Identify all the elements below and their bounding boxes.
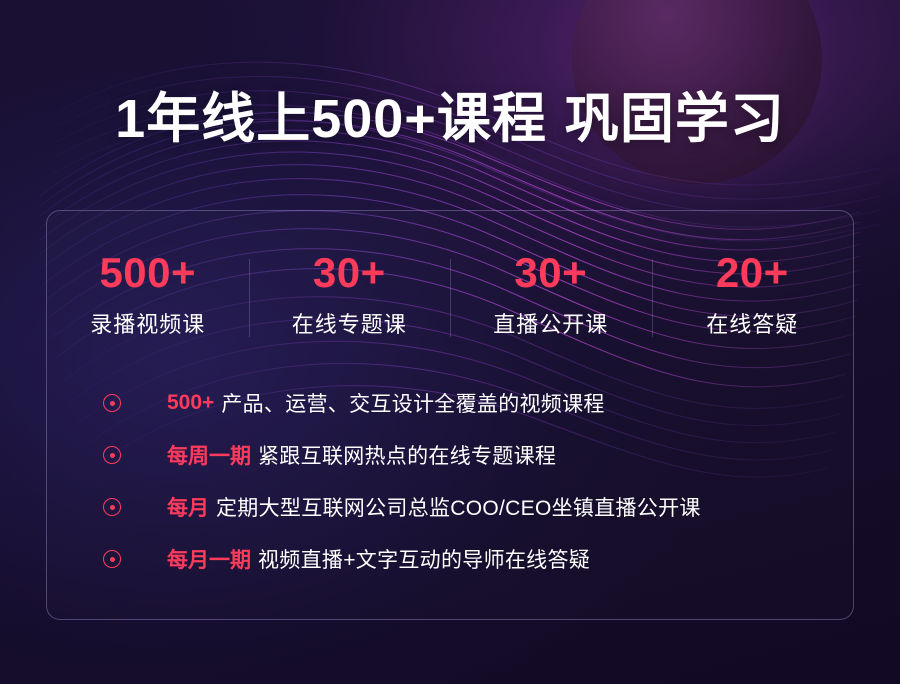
stats-row: 500+ 录播视频课 30+ 在线专题课 30+ 直播公开课 20+ 在线答疑 — [47, 249, 853, 339]
bullet-dot-icon — [103, 446, 121, 464]
bullet-text: 定期大型互联网公司总监COO/CEO坐镇直播公开课 — [216, 492, 701, 522]
stat-item-recorded: 500+ 录播视频课 — [47, 249, 249, 339]
bullet-text: 紧跟互联网热点的在线专题课程 — [258, 440, 556, 470]
stat-item-topic: 30+ 在线专题课 — [249, 249, 451, 339]
stat-label: 在线专题课 — [249, 307, 451, 339]
bullet-emphasis: 每周一期 — [167, 440, 251, 470]
stat-label: 录播视频课 — [47, 307, 249, 339]
list-item: 每周一期 紧跟互联网热点的在线专题课程 — [103, 431, 829, 479]
stat-value: 30+ — [249, 249, 451, 297]
headline-part-2: 巩固学习 — [565, 89, 785, 149]
list-item: 500+ 产品、运营、交互设计全覆盖的视频课程 — [103, 379, 829, 427]
promo-poster: 1年线上500+课程巩固学习 500+ 录播视频课 30+ 在线专题课 30+ … — [0, 0, 900, 684]
page-title: 1年线上500+课程巩固学习 — [0, 74, 900, 153]
list-item: 每月 定期大型互联网公司总监COO/CEO坐镇直播公开课 — [103, 483, 829, 531]
bullet-dot-icon — [103, 550, 121, 568]
bullet-dot-icon — [103, 498, 121, 516]
list-item: 每月一期 视频直播+文字互动的导师在线答疑 — [103, 535, 829, 583]
stat-item-qa: 20+ 在线答疑 — [652, 249, 854, 339]
content-card: 500+ 录播视频课 30+ 在线专题课 30+ 直播公开课 20+ 在线答疑 … — [46, 210, 854, 620]
stat-label: 在线答疑 — [652, 307, 854, 339]
stat-item-live: 30+ 直播公开课 — [450, 249, 652, 339]
stat-label: 直播公开课 — [450, 307, 652, 339]
stat-value: 500+ — [47, 249, 249, 297]
bullet-dot-icon — [103, 394, 121, 412]
bullet-emphasis: 每月 — [167, 492, 209, 522]
bullet-list: 500+ 产品、运营、交互设计全覆盖的视频课程 每周一期 紧跟互联网热点的在线专… — [103, 379, 829, 587]
stat-value: 20+ — [652, 249, 854, 297]
bullet-emphasis: 每月一期 — [167, 544, 251, 574]
stat-value: 30+ — [450, 249, 652, 297]
bullet-text: 产品、运营、交互设计全覆盖的视频课程 — [221, 388, 604, 418]
bullet-emphasis: 500+ — [167, 391, 214, 415]
headline-part-1: 1年线上500+课程 — [115, 89, 547, 149]
bullet-text: 视频直播+文字互动的导师在线答疑 — [258, 544, 590, 574]
